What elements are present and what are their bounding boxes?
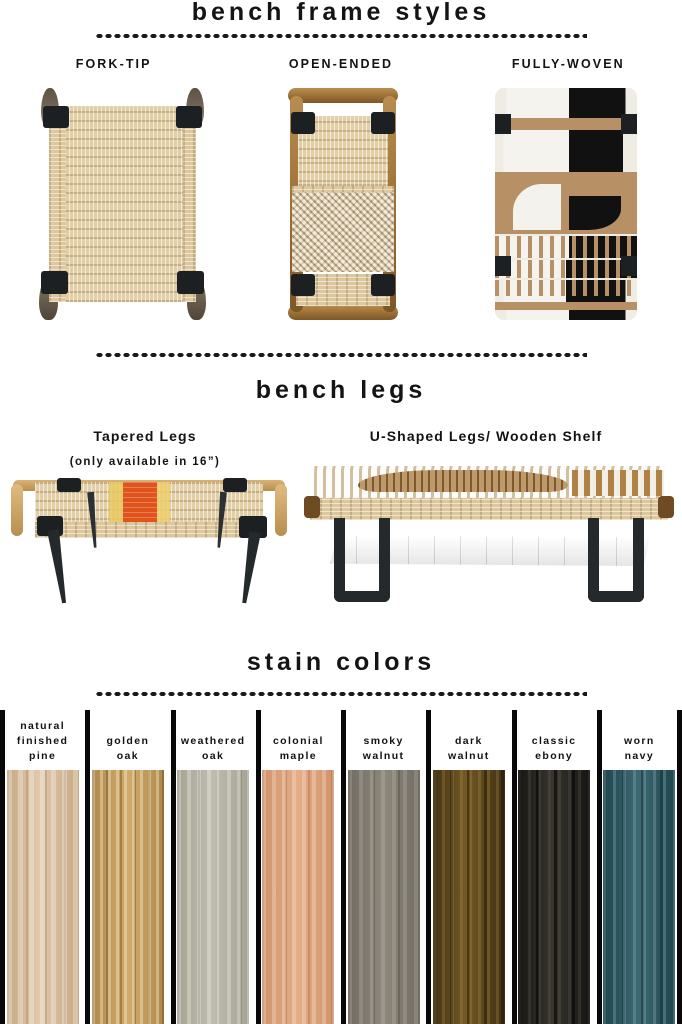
- fully-woven-comb-teeth-1: [495, 236, 637, 258]
- stain-swatch-classic-ebony[interactable]: classic ebony: [512, 710, 597, 1024]
- page-title: bench frame styles: [0, 0, 682, 25]
- tapered-rail-right: [275, 484, 287, 536]
- stain-label-line1: classic: [532, 734, 577, 749]
- open-ended-rail-bottom: [288, 305, 398, 320]
- fork-tip-bracket-top-left: [43, 106, 69, 128]
- stain-label: classic ebony: [529, 719, 580, 764]
- stain-label: worn navy: [621, 719, 658, 764]
- fully-woven-band-4: [495, 310, 637, 320]
- divider-dots-bottom: [95, 691, 587, 697]
- leg-sublabel-tapered: (only available in 16”): [0, 456, 290, 468]
- open-ended-woven-band: [298, 162, 388, 182]
- stain-color-swatch-strip: natural finished pine golden oak weather…: [0, 710, 682, 1024]
- stain-chip: [518, 770, 590, 1024]
- tapered-bracket-back-left: [57, 478, 81, 492]
- stain-chip: [92, 770, 164, 1024]
- frame-style-label-open-ended: OPEN-ENDED: [227, 57, 454, 71]
- section-bench-legs: bench legs Tapered Legs (only available …: [0, 344, 682, 468]
- u-shaped-seat-inlay: [358, 470, 568, 492]
- stain-label-line2: oak: [106, 749, 149, 764]
- stain-label-line3: pine: [17, 749, 68, 764]
- stain-label-line1: golden: [106, 734, 149, 749]
- frame-style-labels: FORK-TIP OPEN-ENDED FULLY-WOVEN: [0, 57, 682, 71]
- stain-swatch-smoky-walnut[interactable]: smoky walnut: [341, 710, 426, 1024]
- stain-label-line1: natural: [17, 719, 68, 734]
- divider-dots-middle: [95, 352, 587, 358]
- stain-label: golden oak: [103, 719, 152, 764]
- stain-label-line2: navy: [624, 749, 655, 764]
- fork-tip-bracket-top-right: [176, 106, 202, 128]
- section-title-bench-legs: bench legs: [0, 378, 682, 403]
- frame-style-label-fork-tip: FORK-TIP: [0, 57, 227, 71]
- open-ended-bracket-top-left: [291, 112, 315, 134]
- tapered-bracket-back-right: [223, 478, 247, 492]
- stain-chip: [262, 770, 334, 1024]
- fully-woven-band-1: [495, 88, 637, 118]
- frame-style-label-fully-woven: FULLY-WOVEN: [455, 57, 682, 71]
- fully-woven-comb-teeth-2: [495, 260, 637, 278]
- stain-label: dark walnut: [445, 719, 493, 764]
- u-shaped-seat-front-rope: [310, 498, 668, 520]
- u-shaped-leg-left: [334, 518, 390, 602]
- bench-image-fork-tip[interactable]: [35, 88, 210, 320]
- stain-swatch-colonial-maple[interactable]: colonial maple: [256, 710, 341, 1024]
- stain-chip: [603, 770, 675, 1024]
- stain-chip: [7, 770, 79, 1024]
- open-ended-bracket-top-right: [371, 112, 395, 134]
- stain-chip: [348, 770, 420, 1024]
- stain-label: natural finished pine: [14, 719, 71, 764]
- stain-swatch-golden-oak[interactable]: golden oak: [85, 710, 170, 1024]
- stain-label-line2: walnut: [363, 749, 405, 764]
- stain-label-line1: colonial: [273, 734, 324, 749]
- stain-label-line2: finished: [17, 734, 68, 749]
- stain-swatch-worn-navy[interactable]: worn navy: [597, 710, 682, 1024]
- stain-label-line2: walnut: [448, 749, 490, 764]
- stain-label-line1: smoky: [363, 734, 405, 749]
- open-ended-bracket-bottom-left: [291, 274, 315, 296]
- section-stain-colors: stain colors: [0, 650, 682, 697]
- stain-chip: [433, 770, 505, 1024]
- tapered-seat-front-edge: [35, 522, 263, 538]
- stain-chip: [177, 770, 249, 1024]
- bench-image-tapered-legs[interactable]: [5, 478, 293, 608]
- divider-dots-top: [95, 33, 587, 39]
- fully-woven-band-2: [495, 130, 637, 172]
- u-shaped-endcap-right: [658, 496, 674, 518]
- fully-woven-bracket-top-left: [495, 114, 511, 134]
- bench-image-open-ended[interactable]: [278, 88, 408, 320]
- fork-tip-woven-surface: [49, 106, 196, 302]
- stain-swatch-natural-finished-pine[interactable]: natural finished pine: [0, 710, 85, 1024]
- open-ended-rail-top: [288, 88, 398, 103]
- stain-label-line2: oak: [181, 749, 246, 764]
- fully-woven-comb-teeth-3: [495, 280, 637, 296]
- stain-label: weathered oak: [178, 719, 249, 764]
- fork-tip-bracket-bottom-right: [177, 271, 204, 294]
- leg-label-u-shaped: U-Shaped Legs/ Wooden Shelf: [290, 428, 682, 444]
- fully-woven-stripe-tan-1: [495, 118, 637, 130]
- fully-woven-bracket-bottom-right: [621, 256, 637, 276]
- fully-woven-bracket-top-right: [621, 114, 637, 134]
- fork-tip-bracket-bottom-left: [41, 271, 68, 294]
- section-bench-frame-styles: bench frame styles FORK-TIP OPEN-ENDED F…: [0, 0, 682, 71]
- u-shaped-seat-slats: [572, 470, 664, 496]
- stain-label: smoky walnut: [360, 719, 408, 764]
- section-title-stain-colors: stain colors: [0, 650, 682, 675]
- stain-label-line1: dark: [448, 734, 490, 749]
- tapered-rail-left: [11, 484, 23, 536]
- stain-label: colonial maple: [270, 719, 327, 764]
- tapered-leg-front-left: [47, 529, 70, 604]
- open-ended-bracket-bottom-right: [371, 274, 395, 296]
- bench-image-u-shaped-legs[interactable]: [300, 462, 678, 610]
- stain-label-line1: worn: [624, 734, 655, 749]
- u-shaped-endcap-left: [304, 496, 320, 518]
- stain-label-line1: weathered: [181, 734, 246, 749]
- stain-swatch-dark-walnut[interactable]: dark walnut: [426, 710, 511, 1024]
- stain-swatch-weathered-oak[interactable]: weathered oak: [171, 710, 256, 1024]
- tapered-leg-front-right: [238, 531, 261, 604]
- leg-label-tapered: Tapered Legs: [0, 428, 290, 444]
- stain-label-line2: ebony: [532, 749, 577, 764]
- u-shaped-leg-right: [588, 518, 644, 602]
- stain-label-line2: maple: [273, 749, 324, 764]
- bench-image-fully-woven[interactable]: [495, 88, 637, 320]
- open-ended-woven-chevron: [292, 192, 394, 272]
- fully-woven-bracket-bottom-left: [495, 256, 511, 276]
